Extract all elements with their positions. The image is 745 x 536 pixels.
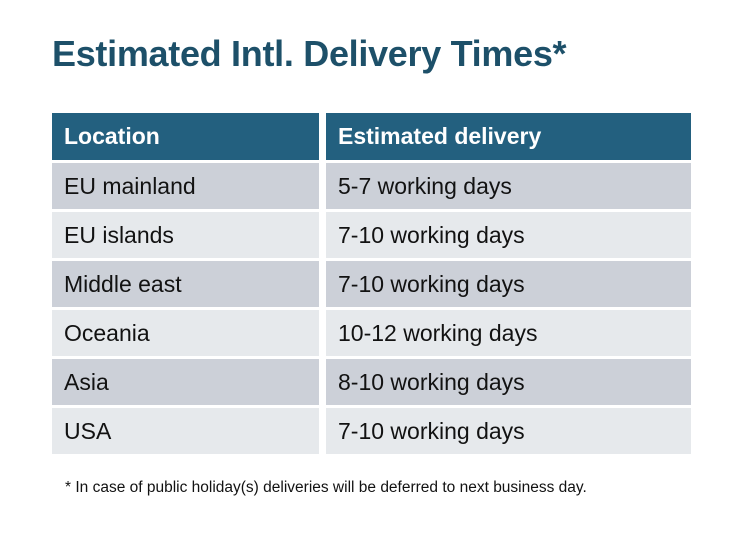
table-row: Asia 8-10 working days	[52, 359, 691, 405]
column-header-estimated-delivery: Estimated delivery	[326, 113, 691, 160]
cell-location: Oceania	[52, 310, 319, 356]
cell-estimated-delivery: 8-10 working days	[326, 359, 691, 405]
table-row: EU mainland 5-7 working days	[52, 163, 691, 209]
cell-location: EU mainland	[52, 163, 319, 209]
cell-estimated-delivery: 7-10 working days	[326, 261, 691, 307]
table-row: Middle east 7-10 working days	[52, 261, 691, 307]
column-header-location: Location	[52, 113, 319, 160]
footnote-text: * In case of public holiday(s) deliverie…	[65, 479, 587, 497]
page-title: Estimated Intl. Delivery Times*	[52, 33, 566, 75]
cell-location: Middle east	[52, 261, 319, 307]
table-header-row: Location Estimated delivery	[52, 113, 691, 160]
cell-location: EU islands	[52, 212, 319, 258]
delivery-times-page: Estimated Intl. Delivery Times* Location…	[0, 0, 745, 536]
table-row: USA 7-10 working days	[52, 408, 691, 454]
delivery-times-table: Location Estimated delivery EU mainland …	[52, 113, 691, 454]
cell-estimated-delivery: 10-12 working days	[326, 310, 691, 356]
cell-location: USA	[52, 408, 319, 454]
table-row: EU islands 7-10 working days	[52, 212, 691, 258]
cell-estimated-delivery: 7-10 working days	[326, 212, 691, 258]
table-row: Oceania 10-12 working days	[52, 310, 691, 356]
cell-location: Asia	[52, 359, 319, 405]
cell-estimated-delivery: 5-7 working days	[326, 163, 691, 209]
cell-estimated-delivery: 7-10 working days	[326, 408, 691, 454]
